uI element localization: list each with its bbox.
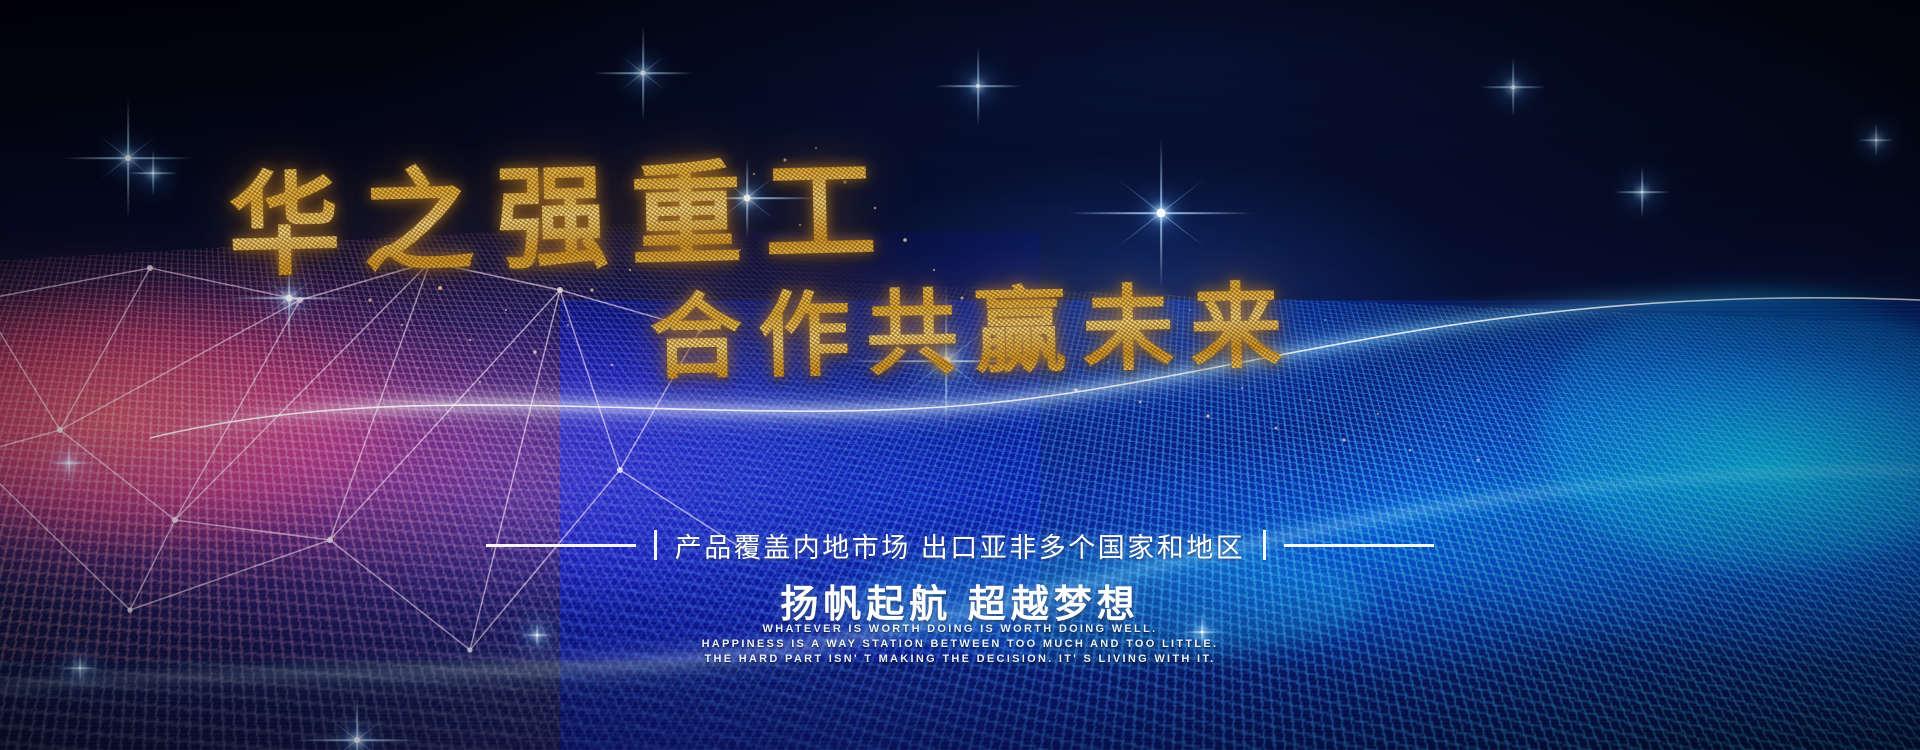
rule-right-icon (1284, 544, 1434, 547)
bar-right-icon (1263, 530, 1266, 560)
english-quote-block: WHATEVER IS WORTH DOING IS WORTH DOING W… (0, 622, 1920, 667)
rule-left-icon (486, 544, 636, 547)
bar-left-icon (654, 530, 657, 560)
banner-canvas: 华之强重工 合作共赢未来 产品覆盖内地市场 出口亚非多个国家和地区 扬帆起航 超… (0, 0, 1920, 750)
slogan-text: 扬帆起航 超越梦想 (0, 573, 1920, 628)
banner-content: 华之强重工 合作共赢未来 产品覆盖内地市场 出口亚非多个国家和地区 扬帆起航 超… (0, 0, 1920, 750)
english-quote-line: THE HARD PART ISN' T MAKING THE DECISION… (0, 652, 1920, 667)
subtitle-row: 产品覆盖内地市场 出口亚非多个国家和地区 (0, 527, 1920, 563)
headline-secondary: 合作共赢未来 (649, 252, 1299, 397)
english-quote-line: WHATEVER IS WORTH DOING IS WORTH DOING W… (0, 622, 1920, 637)
english-quote-line: HAPPINESS IS A WAY STATION BETWEEN TOO M… (0, 637, 1920, 652)
subtitle-text: 产品覆盖内地市场 出口亚非多个国家和地区 (675, 526, 1246, 565)
